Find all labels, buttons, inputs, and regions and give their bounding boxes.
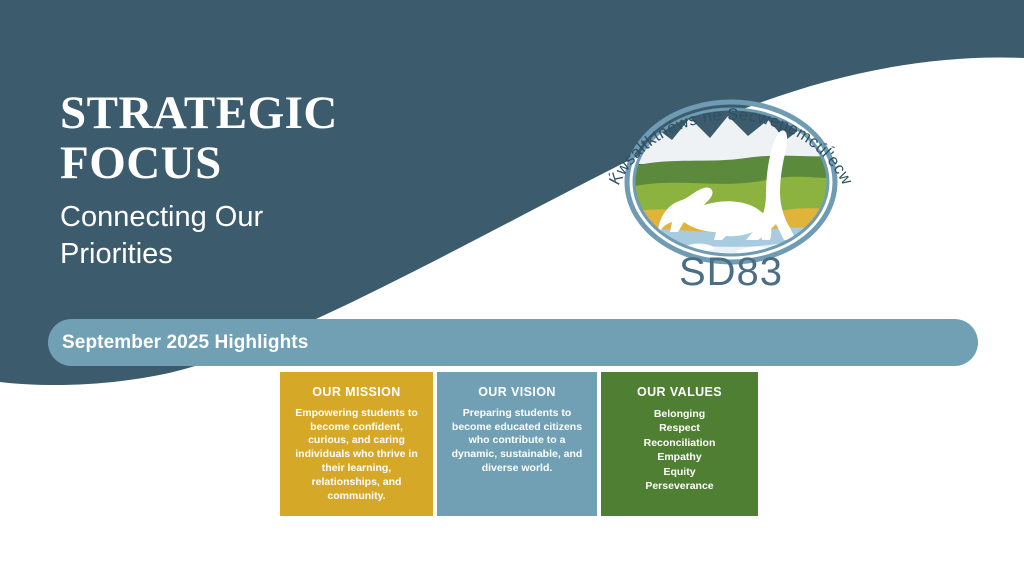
values-item: Equity	[611, 465, 748, 479]
values-item: Perseverance	[611, 479, 748, 493]
sd83-logo: Ḱwsaltktnéws ne Secwepemcúĺ'ecw SD83	[586, 72, 876, 302]
card-vision: OUR VISION Preparing students to become …	[437, 372, 597, 516]
values-item: Reconciliation	[611, 436, 748, 450]
logo-wordmark: SD83	[586, 250, 876, 295]
page-subtitle-line1: Connecting Our	[60, 199, 480, 237]
card-values-title: OUR VALUES	[611, 386, 748, 400]
title-block: STRATEGIC FOCUS Connecting Our Prioritie…	[60, 88, 480, 274]
card-values: OUR VALUES Belonging Respect Reconciliat…	[601, 372, 758, 516]
page-subtitle: Connecting Our Priorities	[60, 199, 480, 274]
strategy-cards-row: OUR MISSION Empowering students to becom…	[280, 372, 758, 516]
values-item: Belonging	[611, 407, 748, 421]
page-title-line1: STRATEGIC	[60, 88, 480, 138]
card-mission: OUR MISSION Empowering students to becom…	[280, 372, 433, 516]
card-mission-body: Empowering students to become confident,…	[290, 407, 423, 504]
values-item: Respect	[611, 421, 748, 435]
card-vision-body: Preparing students to become educated ci…	[447, 407, 587, 476]
slide-canvas: STRATEGIC FOCUS Connecting Our Prioritie…	[0, 0, 1024, 576]
highlights-bar: September 2025 Highlights	[48, 319, 978, 366]
page-subtitle-line2: Priorities	[60, 236, 480, 274]
card-vision-title: OUR VISION	[447, 386, 587, 400]
highlights-bar-label: September 2025 Highlights	[48, 332, 308, 354]
page-title: STRATEGIC FOCUS	[60, 88, 480, 189]
card-values-list: Belonging Respect Reconciliation Empathy…	[611, 407, 748, 494]
values-item: Empathy	[611, 450, 748, 464]
card-mission-title: OUR MISSION	[290, 386, 423, 400]
page-title-line2: FOCUS	[60, 138, 480, 188]
